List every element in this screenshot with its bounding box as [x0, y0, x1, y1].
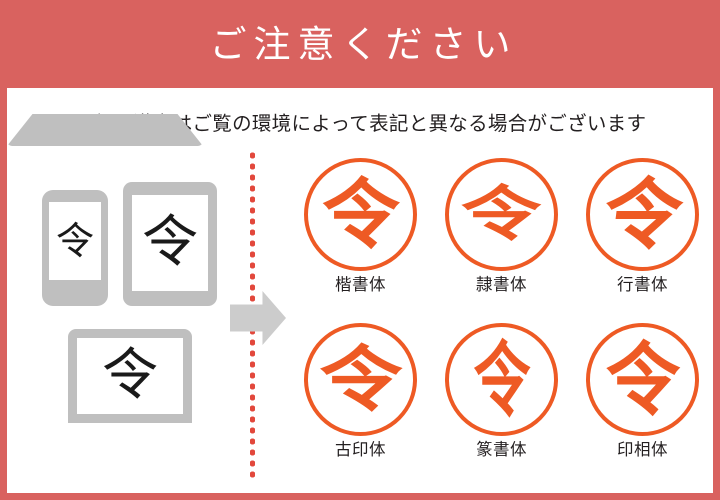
- seal-label: 隷書体: [476, 277, 527, 294]
- seal-label: 印相体: [617, 442, 668, 459]
- seal-item-inso: 令 印相体: [572, 323, 713, 488]
- seal-label: 古印体: [335, 442, 386, 459]
- seal-circle: 令: [586, 158, 699, 271]
- seal-item-tensho: 令 篆書体: [431, 323, 572, 488]
- seal-glyph: 令: [461, 185, 541, 245]
- seal-style-grid: 令 楷書体 令 隷書体 令 行書体 令 古印体: [290, 158, 713, 488]
- seal-circle: 令: [304, 158, 417, 271]
- tablet-illustration: 令: [7, 102, 243, 114]
- laptop-glyph: 令: [77, 338, 183, 414]
- laptop-touchpad: [7, 146, 43, 154]
- smartphone-glyph: 令: [49, 202, 101, 280]
- seal-circle: 令: [304, 323, 417, 436]
- seal-glyph: 令: [322, 177, 400, 253]
- tablet-glyph: 令: [132, 195, 208, 291]
- seal-glyph: 令: [473, 339, 530, 421]
- seal-label: 楷書体: [335, 277, 386, 294]
- content-frame: 一部の漢字はご覧の環境によって表記と異なる場合がございます 令 令: [0, 88, 720, 500]
- seal-item-gyosho: 令 行書体: [572, 158, 713, 323]
- laptop-illustration: 令: [7, 114, 243, 154]
- seal-circle: 令: [445, 158, 558, 271]
- home-button-icon: [7, 88, 21, 102]
- seal-circle: 令: [586, 323, 699, 436]
- device-illustrations: 令 令 令: [7, 88, 243, 500]
- seal-item-kaisho: 令 楷書体: [290, 158, 431, 323]
- seal-label: 篆書体: [476, 442, 527, 459]
- seal-circle: 令: [445, 323, 558, 436]
- seal-item-koin: 令 古印体: [290, 323, 431, 488]
- laptop-base: [7, 114, 203, 146]
- seal-glyph: 令: [605, 340, 679, 420]
- seal-item-reisho: 令 隷書体: [431, 158, 572, 323]
- seal-label: 行書体: [617, 277, 668, 294]
- notice-banner: ご注意ください 一部の漢字はご覧の環境によって表記と異なる場合がございます 令 …: [0, 0, 720, 500]
- page-title: ご注意ください: [203, 26, 518, 63]
- seal-glyph: 令: [599, 176, 686, 254]
- smartphone-illustration: 令: [7, 88, 243, 102]
- banner-header: ご注意ください: [0, 0, 720, 88]
- seal-glyph: 令: [319, 344, 402, 415]
